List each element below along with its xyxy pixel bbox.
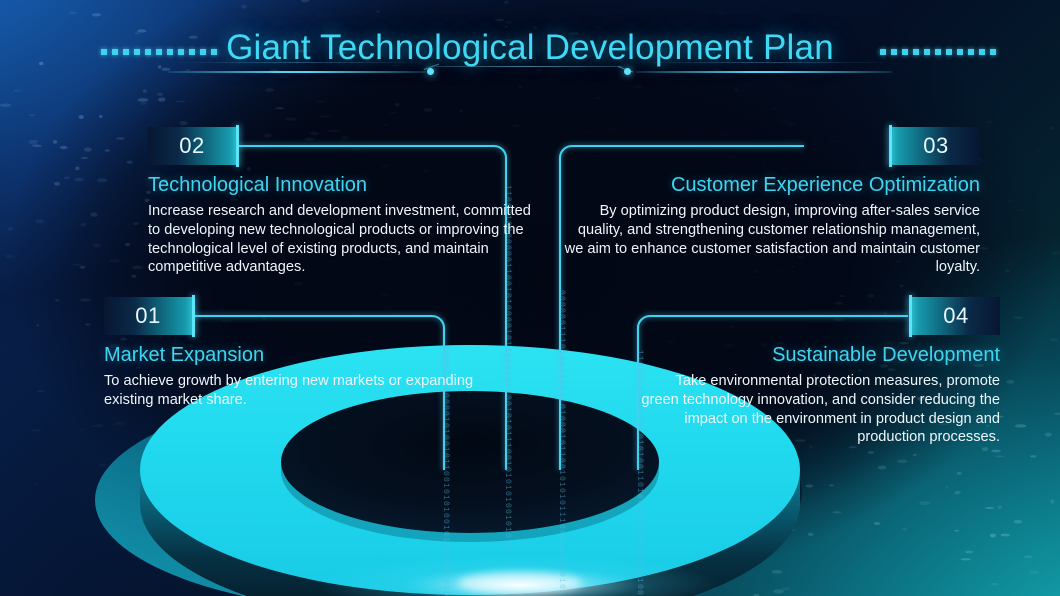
binary-strip-03: 0000001110100011001010001011001010101110…	[557, 290, 566, 590]
item-03-body: By optimizing product design, improving …	[560, 202, 980, 277]
item-04-heading: Sustainable Development	[640, 344, 1000, 367]
item-01-body: To achieve growth by entering new market…	[104, 372, 496, 410]
header-dashes-left	[101, 49, 217, 55]
item-03-number-badge: 03	[892, 127, 980, 165]
item-01-number-badge: 01	[104, 297, 192, 335]
header-rule-right	[636, 71, 892, 73]
item-02-body: Increase research and development invest…	[148, 202, 540, 277]
header-node-dot-left	[427, 68, 434, 75]
item-02-number: 02	[179, 133, 204, 159]
header-node-dot-right	[624, 68, 631, 75]
item-01-number: 01	[135, 303, 160, 329]
item-02[interactable]: 02 Technological Innovation Increase res…	[148, 127, 540, 277]
item-03-heading: Customer Experience Optimization	[560, 174, 980, 197]
page-title: Giant Technological Development Plan	[0, 28, 1060, 68]
item-01[interactable]: 01 Market Expansion To achieve growth by…	[104, 297, 496, 410]
item-04[interactable]: 04 Sustainable Development Take environm…	[640, 297, 1000, 447]
header-rule-left	[168, 71, 426, 73]
item-04-number-badge: 04	[912, 297, 1000, 335]
slide-root: 1100010000000110010100001010000101100101…	[0, 0, 1060, 596]
header-rule-faint-left	[166, 62, 428, 63]
header-dashes-right	[880, 49, 996, 55]
item-02-number-badge: 02	[148, 127, 236, 165]
header-rule-faint-right	[632, 62, 892, 63]
item-03[interactable]: 03 Customer Experience Optimization By o…	[560, 127, 980, 277]
item-01-heading: Market Expansion	[104, 344, 496, 367]
item-03-number: 03	[923, 133, 948, 159]
header-rule-middle	[436, 66, 622, 67]
item-04-body: Take environmental protection measures, …	[640, 372, 1000, 447]
item-02-heading: Technological Innovation	[148, 174, 540, 197]
item-04-number: 04	[943, 303, 968, 329]
